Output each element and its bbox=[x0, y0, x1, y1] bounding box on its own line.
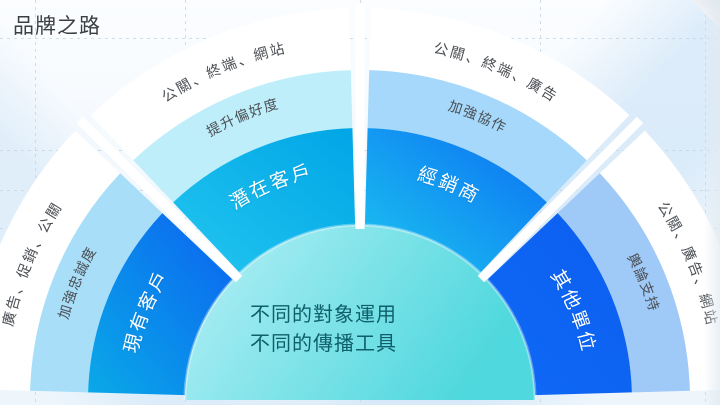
page-title: 品牌之路 bbox=[13, 14, 101, 39]
page-right-edge bbox=[704, 0, 720, 405]
slide-canvas: 廣告、促銷、公關加強忠誠度現有客戶公關、終端、網站提升偏好度潛在客戶公關、終端、… bbox=[0, 0, 720, 405]
radial-audience-diagram: 廣告、促銷、公關加強忠誠度現有客戶公關、終端、網站提升偏好度潛在客戶公關、終端、… bbox=[0, 0, 720, 405]
